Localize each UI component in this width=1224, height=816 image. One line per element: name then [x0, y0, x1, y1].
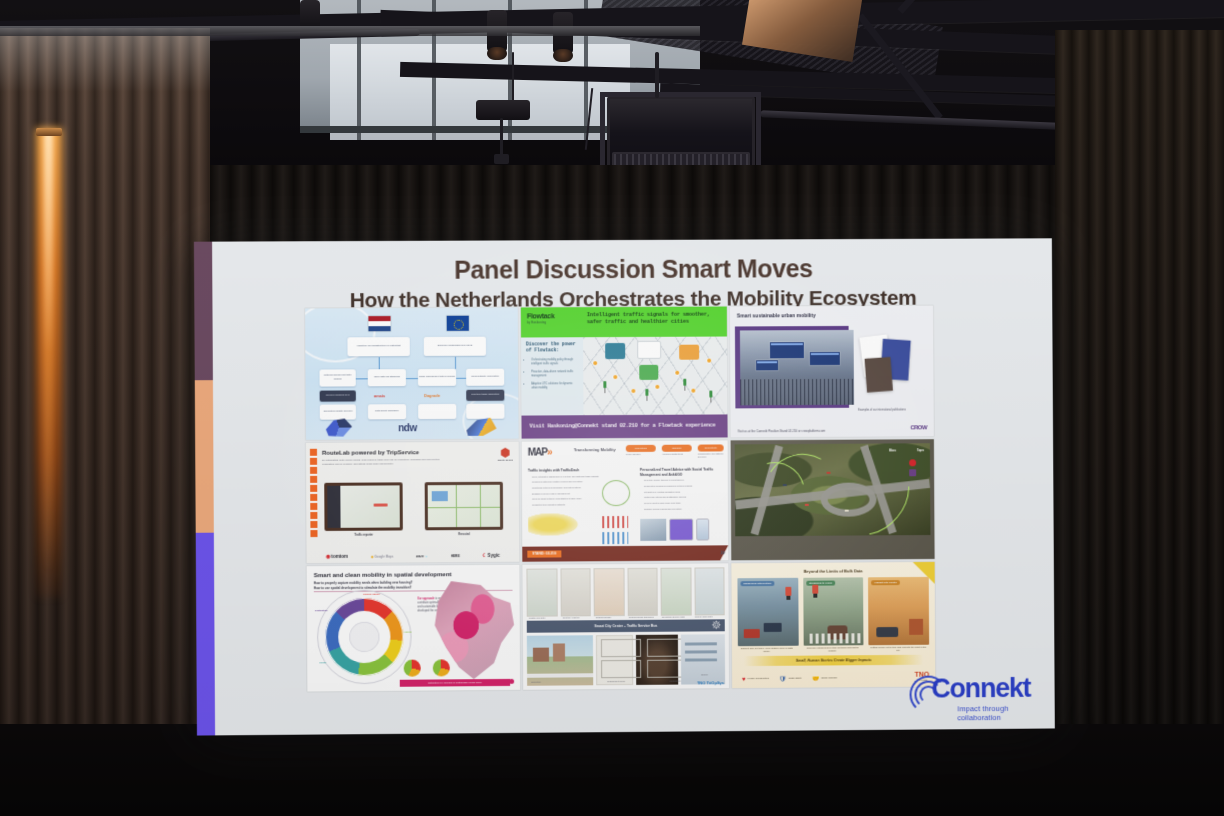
- map-pill-orchestrate[interactable]: Orchestrate: [698, 444, 724, 451]
- map-node-dot: [707, 359, 711, 363]
- flow-node: Connected mobility services: [320, 404, 356, 419]
- panel-aerial-roundabout[interactable]: Bloxs Tapro: [731, 439, 935, 560]
- wheel-label: Destination: [315, 610, 328, 613]
- flow-node: Open data ITS standards: [368, 369, 406, 386]
- brand-badge: [909, 459, 916, 466]
- vehicle: [845, 510, 849, 512]
- map-node-dot: [655, 385, 659, 389]
- flow-node-label: Data quality assurance: [375, 410, 398, 413]
- list-item: Real-time advice tailored to each travel…: [644, 480, 724, 484]
- poster-grid: Ministerie van Infrastructuur en Waterst…: [305, 306, 937, 690]
- brand-badge: [909, 469, 916, 476]
- illustration-card: [627, 568, 658, 616]
- venue-room: Panel Discussion Smart Moves How the Net…: [0, 0, 1224, 816]
- routelab-screen-right: [425, 482, 504, 531]
- traffic-signal-icon: [683, 379, 686, 386]
- flow-node-label: Traffic management data exchange: [419, 376, 455, 379]
- flowtack-network-map: [583, 337, 727, 416]
- flow-arrow: [455, 357, 456, 369]
- netherlands-flag-icon: [368, 316, 390, 331]
- logo-google-maps: ◉Google Maps: [371, 554, 394, 558]
- map-node-dot: [613, 375, 617, 379]
- flow-arrow: [356, 378, 368, 379]
- beyond-banner-label: Small, Human Stories Create Bigger Impac…: [796, 658, 872, 663]
- map-pill-note: Advance digital tools: [662, 454, 683, 457]
- curtain-left: [0, 28, 210, 816]
- map-left-column: Traffic insights with TrafficDash Clear,…: [528, 468, 601, 543]
- routelab-body: By anticipating route choice during road…: [322, 458, 443, 467]
- spatial-question-1: How to properly capture mobility needs w…: [314, 580, 413, 585]
- map-right-bullets: Real-time advice tailored to each travel…: [640, 480, 724, 512]
- map-node-dot: [675, 371, 679, 375]
- flowtack-bullet-list: Orchestrating mobility policy through in…: [526, 359, 578, 391]
- routelab-caption-right: Rerouted: [439, 533, 489, 537]
- gear-icon: [712, 620, 721, 629]
- flow-node: Data quality assurance: [368, 404, 406, 419]
- smart-mobility-wheel: [325, 598, 404, 677]
- bottom-caption: Requirement scene: [607, 681, 625, 684]
- story-card-dangerous-intersection: Dangerous Intersection: [737, 578, 798, 646]
- panel-crow[interactable]: Smart sustainable urban mobility Example…: [730, 306, 934, 438]
- icon-social-inclusion: 🤝 Social Inclusion: [812, 675, 837, 684]
- story-cards: Dangerous Intersection Struggling to Cro…: [737, 577, 929, 646]
- list-item: Clear, integrated dashboard for real-tim…: [532, 476, 600, 480]
- road-sign: [810, 352, 840, 365]
- flowtack-logo-sub: by Haskoning: [527, 322, 555, 326]
- curtain-right: [1055, 30, 1224, 816]
- bottom-caption: Tooling: [701, 675, 708, 678]
- vehicle: [783, 484, 787, 486]
- beyond-banner: Small, Human Stories Create Bigger Impac…: [744, 655, 923, 666]
- story-caption-1: Efficient flow, but many "near misses" k…: [738, 648, 796, 655]
- flow-node-label: European Commission DG MOVE: [437, 345, 472, 348]
- traffic-signal-icon: [645, 389, 648, 396]
- flow-node-label: Connected mobility services: [323, 410, 352, 413]
- accent-stripe: [194, 242, 215, 736]
- icon-traffic-safety: 🛡 Traffic Safety: [779, 675, 802, 684]
- uplight-fixture: [36, 128, 62, 136]
- logo-sygic: ☾Sygic: [482, 553, 499, 559]
- ndw-decor-left: [326, 419, 352, 437]
- map-right-column: Personalized Travel Advice with Social T…: [640, 467, 724, 542]
- story-caption-2: Need for extended green time for those w…: [804, 647, 862, 654]
- map-right-heading: Personalized Travel Advice with Social T…: [640, 467, 724, 477]
- eu-flag-icon: [447, 316, 469, 331]
- card-label: Vibrant City Center: [871, 580, 900, 586]
- booth-label: Booth 02.302: [498, 459, 513, 462]
- logo-tomtom: ◉tomtom: [326, 554, 348, 560]
- spatial-result-label: Estimated 6% increase in sustainable mod…: [428, 681, 482, 685]
- connekt-logo: Connekt Impact through collaboration: [905, 667, 1044, 726]
- panel-routelab[interactable]: RouteLab powered by TripService By antic…: [306, 442, 519, 564]
- flowtack-headline: Intelligent traffic signals for smoother…: [587, 312, 723, 326]
- stripe-segment-peach: [195, 380, 214, 533]
- panel-flowtack[interactable]: Flowtack by Haskoning Intelligent traffi…: [521, 307, 728, 439]
- map-node-dot: [631, 389, 635, 393]
- logo-tapro: Tapro: [917, 449, 924, 453]
- map-pill-note: Learn advisory: [626, 454, 641, 457]
- traffic-signal-icon: [709, 391, 712, 398]
- illustration-card: [526, 568, 557, 616]
- curtain-rail: [0, 26, 700, 36]
- softbox-yoke: [600, 92, 760, 97]
- map-yellow-chart: [528, 512, 582, 538]
- wheel-label: Access: [403, 632, 411, 635]
- partner-logo-dagrade: Dagrade: [424, 393, 440, 398]
- story-caption-3: Getting people out of their cars and int…: [869, 647, 927, 654]
- curtain-sheen: [0, 28, 210, 92]
- spotlight-lens: [487, 47, 507, 60]
- handshake-icon: 🤝: [812, 675, 820, 683]
- list-item: Monitoring network performance and inter…: [532, 487, 600, 491]
- icon-livable-communities: ♥ Livable Communities: [742, 676, 769, 685]
- list-item: Proven effect in large-scale field trial…: [644, 502, 724, 506]
- flow-node-label: National access point data sharing: [321, 375, 355, 381]
- smart-city-band-label: Smart City Center – Traffic Service Bus: [594, 623, 657, 628]
- illustration-card: [694, 567, 725, 615]
- flow-node: [466, 404, 504, 419]
- map-card-orange: [679, 345, 699, 360]
- crow-logo: CROW: [910, 424, 927, 432]
- map-card-white: [637, 341, 661, 359]
- flowtack-cta-text: Visit Haskoning@Connekt stand 02.210 for…: [522, 423, 716, 431]
- panel-smart-city-center[interactable]: Floating Car Data Junction Analytics Nei…: [522, 563, 729, 690]
- icon-label: Livable Communities: [748, 678, 769, 681]
- spotlight-small: [476, 100, 530, 120]
- card-label: Struggling to Cross: [806, 581, 835, 587]
- crow-footer-text: Visit us at the Connekt Pavilion Stand 0…: [738, 429, 826, 434]
- pie-chart-group: [404, 659, 450, 676]
- list-item: Adaptive UTC solutions for dynamic urban…: [531, 382, 578, 390]
- bottom-illustration-row: [527, 634, 725, 686]
- panel-ndw[interactable]: Ministerie van Infrastructuur en Waterst…: [305, 307, 519, 439]
- spatial-result-bar: Estimated 6% increase in sustainable mod…: [400, 679, 510, 687]
- flow-node: [418, 404, 456, 419]
- icon-label: Social Inclusion: [821, 678, 837, 681]
- brand-dot: [509, 679, 514, 684]
- value-icons: ♥ Livable Communities 🛡 Traffic Safety 🤝…: [742, 675, 837, 684]
- panel-spatial-development[interactable]: Smart and clean mobility in spatial deve…: [307, 565, 521, 692]
- vehicle: [805, 504, 809, 506]
- flow-node: Traffic management data exchange: [418, 369, 456, 386]
- pie-chart: [433, 659, 450, 676]
- list-item: Integrated in existing navigation apps: [644, 491, 724, 495]
- map-pill-understand[interactable]: Understand: [626, 445, 656, 452]
- illustration-card: [593, 568, 624, 616]
- story-card-vibrant-city-center: Vibrant City Center: [868, 577, 929, 645]
- logo-here: HERE: [451, 554, 460, 558]
- wireframe-panel: [596, 635, 633, 685]
- flow-node-label: Service providers layer: [326, 394, 350, 397]
- map-logo: MAP»: [528, 446, 552, 460]
- flow-node-label: Real-time traffic information: [471, 394, 499, 397]
- routelab-booth-badge: Booth 02.302: [498, 448, 513, 462]
- flow-arrow: [456, 378, 466, 379]
- map-tagline: Transforming Mobility: [574, 447, 616, 452]
- city-illustration: [527, 635, 593, 686]
- road-sign: [770, 342, 804, 358]
- list-item: Multimodal options and sustainable choic…: [644, 497, 724, 501]
- list-item: Combined data from multiple sources and …: [532, 481, 600, 485]
- bicycle-parking: [740, 379, 854, 406]
- illustration-row: [526, 567, 724, 616]
- bottom-caption: Simulation: [531, 682, 541, 685]
- connekt-tagline: Impact through collaboration: [957, 704, 1045, 723]
- softbox-dropper: [655, 52, 659, 98]
- hoist-hook: [494, 154, 509, 164]
- flow-node-label: Open data ITS standards: [374, 376, 400, 379]
- floor: [0, 724, 1224, 816]
- illustration-card: [560, 568, 591, 616]
- wheel-label: Flexible Choice: [363, 594, 380, 597]
- map-pill-note: Collaborative operational services: [698, 453, 728, 459]
- bottom-caption: Visualisation: [669, 681, 681, 684]
- map-node-dot: [691, 389, 695, 393]
- list-item: Scalable across regions and operators: [644, 508, 724, 512]
- crow-street-photo: [740, 330, 854, 405]
- flowtack-logo-text: Flowtack: [527, 313, 555, 320]
- routelab-screen-left: [324, 482, 403, 531]
- map-left-bullets: Clear, integrated dashboard for real-tim…: [528, 476, 600, 508]
- flowtack-cta-bar[interactable]: Visit Haskoning@Connekt stand 02.210 for…: [521, 414, 727, 438]
- list-item: Consistent and validated datasets: [532, 504, 600, 508]
- map-card-blue: [605, 343, 625, 359]
- card-label: Dangerous Intersection: [740, 581, 774, 587]
- flow-node-label: Road authority cooperation: [471, 376, 499, 379]
- shield-icon: 🛡: [779, 675, 787, 683]
- flow-node: Road authority cooperation: [466, 369, 504, 386]
- map-stand-label: STAND: 02.210: [527, 551, 561, 558]
- story-card-struggling-to-cross: Struggling to Cross: [803, 577, 864, 645]
- phone-mockup: [696, 518, 709, 540]
- spotlight-lens: [553, 49, 573, 62]
- routelab-title: RouteLab powered by TripService: [322, 449, 419, 458]
- logo-bloxs: Bloxs: [889, 449, 896, 453]
- list-item: Used for smart network orchestration at …: [532, 499, 600, 503]
- illustration-card: [660, 568, 691, 616]
- traffic-signal-icon: [603, 381, 606, 388]
- road-sign: [756, 360, 778, 370]
- list-item: Proactive, data-driven network traffic m…: [531, 370, 578, 378]
- flow-node-dark: Service providers layer: [320, 390, 356, 401]
- icon-label: Traffic Safety: [788, 678, 801, 681]
- page-title: Panel Discussion Smart Moves: [212, 254, 1052, 286]
- heart-icon: ♥: [742, 676, 746, 684]
- map-card-green: [639, 365, 658, 380]
- flow-node: European Commission DG MOVE: [424, 337, 486, 356]
- phone-mockup: [669, 519, 693, 541]
- stripe-segment-violet: [196, 533, 215, 736]
- crow-footer-label[interactable]: Visit us at the Connekt Pavilion Stand 0…: [738, 429, 826, 433]
- routelab-partner-logos: ◉tomtom ◉Google Maps waze☺ HERE ☾Sygic: [307, 553, 520, 561]
- orange-uplight-core: [44, 132, 53, 572]
- stripe-segment-plum: [194, 242, 213, 380]
- connekt-wordmark: Connekt: [931, 673, 1030, 705]
- map-pill-organise[interactable]: Organise: [662, 445, 692, 452]
- pie-chart: [404, 660, 421, 677]
- smart-city-band: Smart City Center – Traffic Service Bus: [527, 619, 725, 632]
- flow-node: National access point data sharing: [320, 369, 356, 386]
- flowtack-logo: Flowtack by Haskoning: [527, 312, 555, 325]
- panel-map[interactable]: MAP» Transforming Mobility Understand Or…: [522, 440, 729, 561]
- hexagon-icon: [500, 448, 510, 458]
- flow-arrow: [406, 378, 418, 379]
- routelab-caption-left: Traffic reporter: [339, 534, 389, 538]
- flow-arrow: [379, 357, 380, 369]
- list-item: Orchestrating mobility policy through in…: [531, 359, 578, 367]
- chevron-double-right-icon: »: [720, 546, 723, 558]
- crow-photo-caption: Examples of our international publicatio…: [858, 408, 906, 412]
- spatial-title: Smart and clean mobility in spatial deve…: [314, 571, 452, 580]
- crow-title: Smart sustainable urban mobility: [737, 313, 816, 320]
- flowtack-sidebar-heading: Discover the power of Flowtack:: [526, 342, 578, 355]
- flow-node-label: Ministerie van Infrastructuur en Waterst…: [357, 345, 400, 348]
- vehicle: [827, 472, 831, 474]
- list-item: Segmented nudging for balanced network l…: [644, 485, 724, 489]
- aerial-photo: Bloxs Tapro: [735, 443, 931, 536]
- approach-label: Our approach: [417, 597, 434, 600]
- screenshot-thumb: [640, 519, 666, 541]
- projection-screen[interactable]: Panel Discussion Smart Moves How the Net…: [194, 238, 1055, 735]
- map-stand-bar: STAND: 02.210: [522, 545, 728, 561]
- flow-node: Ministerie van Infrastructuur en Waterst…: [347, 337, 409, 356]
- map-middle-diagram: [602, 468, 634, 543]
- flowtack-sidebar: Discover the power of Flowtack: Orchestr…: [521, 337, 584, 415]
- list-item: Enabling evidence-based management: [532, 493, 600, 497]
- beyond-title: Beyond the Limits of Bulk Data: [731, 568, 934, 575]
- flow-node-dark: Real-time traffic information: [466, 390, 504, 401]
- logo-waze: waze☺: [416, 554, 428, 558]
- map-left-heading: Traffic insights with TrafficDash: [528, 468, 600, 473]
- map-logo-text: MAP: [528, 447, 547, 458]
- tno-triopsys-logo: TNO TriOpSys: [697, 680, 724, 686]
- map-node-dot: [593, 361, 597, 365]
- ndw-logo: ndw: [398, 422, 417, 436]
- chevron-right-icon: »: [547, 447, 552, 458]
- decor-stripes: [310, 449, 318, 537]
- publication-cover: [865, 357, 893, 393]
- partner-logo-amsis: amsis: [374, 393, 385, 398]
- wheel-label: Living: [319, 662, 326, 665]
